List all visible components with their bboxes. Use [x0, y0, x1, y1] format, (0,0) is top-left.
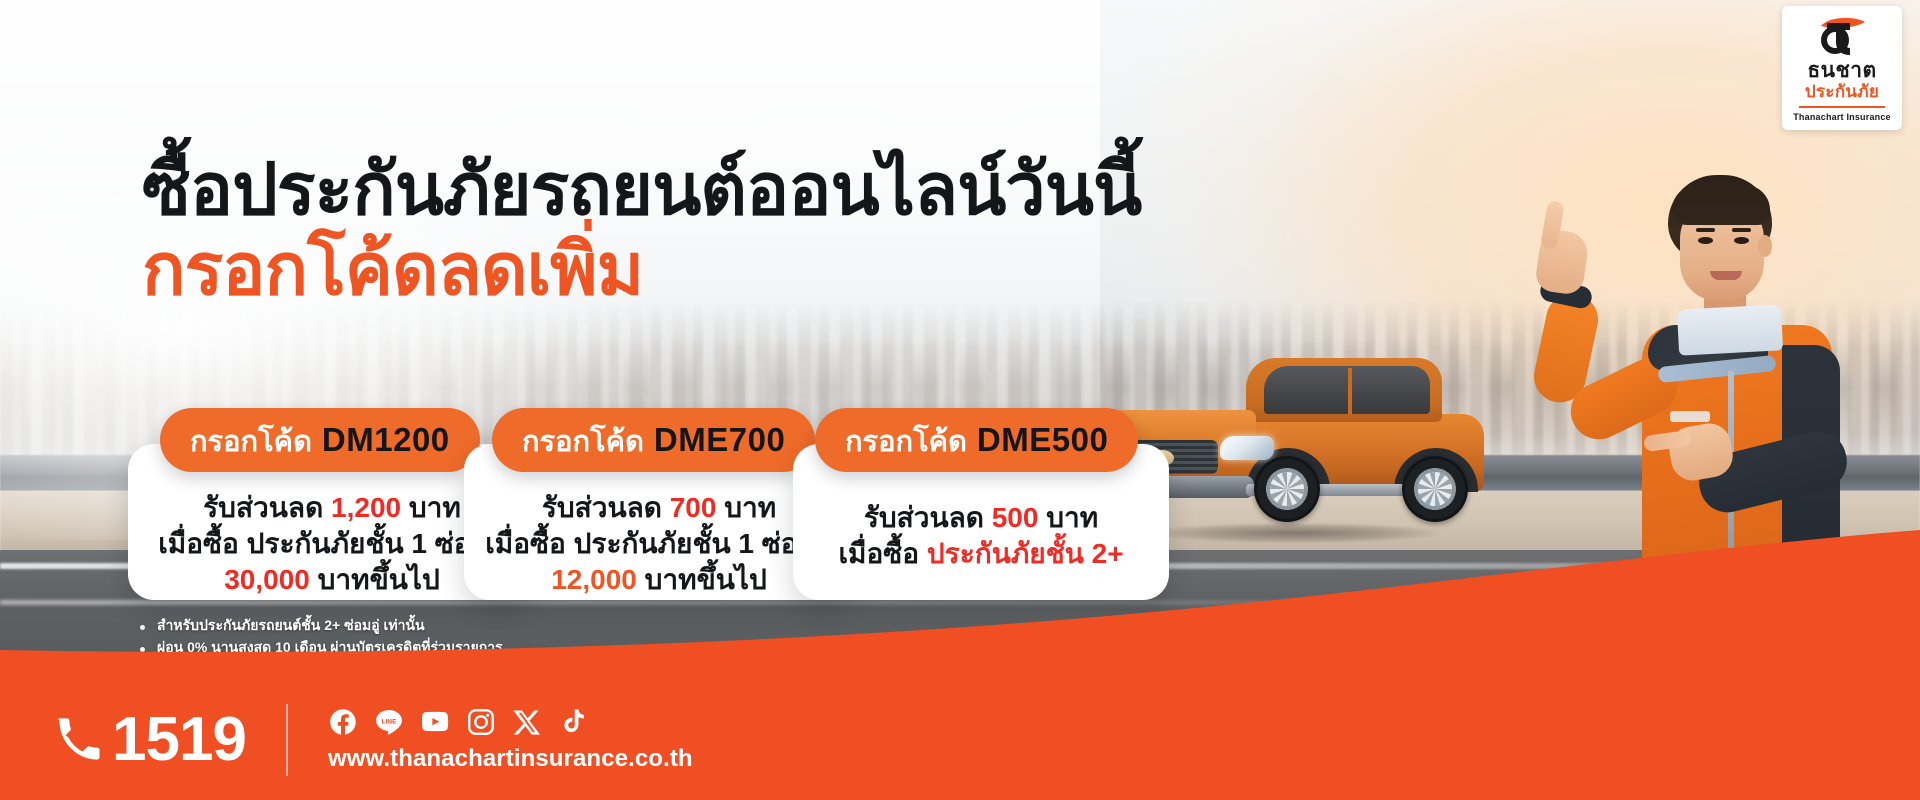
promo-code-pill-3[interactable]: กรอกโค้ดDME500 [815, 408, 1138, 472]
promo-line-prefix: รับส่วนลด [542, 492, 670, 523]
promo-code-2: DME700 [654, 421, 785, 458]
promo-line-3-1: รับส่วนลด 500 บาท [807, 500, 1155, 536]
x-twitter-icon[interactable] [512, 707, 542, 737]
youtube-icon[interactable] [420, 707, 450, 737]
phone-handset-icon [56, 717, 102, 763]
promo-line-suffix: บาท [716, 492, 776, 523]
promo-banner: ซื้อประกันภัยรถยนต์ออนไลน์วันนี้ กรอกโค้… [0, 0, 1920, 800]
promo-line-amount: 700 [670, 492, 717, 523]
bullet-dot-icon [140, 625, 145, 630]
promo-line-suffix: บาท [401, 492, 461, 523]
promo-line-prefix: เมื่อซื้อ ประกันภัยชั้น 1 ซ่อมอู่ [485, 528, 833, 559]
svg-text:LINE: LINE [382, 718, 397, 725]
hotline-group[interactable]: 1519 [56, 709, 246, 771]
promo-line-suffix: บาท [1038, 502, 1098, 533]
pill-label-1: กรอกโค้ด [190, 426, 312, 458]
bullet-dot-icon [140, 669, 145, 674]
bullet-item: สำหรับประกันภัยรถยนต์ชั้น 2+ ซ่อมอู่ เท่… [140, 616, 760, 635]
logo-name-th-1: ธนชาต [1807, 60, 1876, 81]
promo-line-prefix: เมื่อซื้อ ประกันภัยชั้น 1 ซ่อมอู่ [158, 528, 506, 559]
promo-line-amount: 1,200 [331, 492, 401, 523]
promo-line-amount: 500 [992, 502, 1039, 533]
website-url[interactable]: www.thanachartinsurance.co.th [328, 745, 693, 773]
promo-line-suffix: บาทขึ้นไป [637, 564, 767, 595]
promo-line-prefix: เมื่อซื้อ [838, 538, 926, 569]
promo-line-suffix: บาทขึ้นไป [310, 564, 440, 595]
brand-logo[interactable]: ธนชาต ประกันภัย Thanachart Insurance [1782, 6, 1902, 130]
promo-card-body-3: รับส่วนลด 500 บาท เมื่อซื้อ ประกันภัยชั้… [793, 500, 1169, 572]
promo-line-amount: 12,000 [551, 564, 637, 595]
promo-line-2-1: รับส่วนลด 700 บาท [478, 490, 840, 526]
thanachart-t-mark-icon [1811, 14, 1873, 58]
promo-line-3-2: เมื่อซื้อ ประกันภัยชั้น 2+ [807, 536, 1155, 572]
bullet-item: ผ่อน 0% นานสูงสุด 10 เดือน ผ่านบัตรเครดิ… [140, 638, 760, 657]
promo-code-pill-2[interactable]: กรอกโค้ดDME700 [492, 408, 815, 472]
logo-divider [1799, 106, 1885, 108]
promo-line-prefix: รับส่วนลด [203, 492, 331, 523]
promo-code-3: DME500 [977, 421, 1108, 458]
headline-block: ซื้อประกันภัยรถยนต์ออนไลน์วันนี้ กรอกโค้… [142, 152, 1122, 309]
bullet-item: รายละเอียดและเงื่อนไขเป็นไปตามที่บริษัทฯ… [140, 660, 760, 676]
footer-divider [286, 704, 288, 776]
footer-content: 1519 LINE [0, 680, 1920, 800]
terms-bullet-list: สำหรับประกันภัยรถยนต์ชั้น 2+ ซ่อมอู่ เท่… [140, 616, 760, 679]
bullet-dot-icon [140, 647, 145, 652]
promo-card-dme500[interactable]: กรอกโค้ดDME500 รับส่วนลด 500 บาท เมื่อซื… [793, 444, 1169, 600]
tiktok-icon[interactable] [558, 707, 588, 737]
promo-line-prefix: รับส่วนลด [864, 502, 992, 533]
bullet-text: สำหรับประกันภัยรถยนต์ชั้น 2+ ซ่อมอู่ เท่… [157, 616, 425, 635]
promo-code-1: DM1200 [322, 421, 450, 458]
bullet-text: รายละเอียดและเงื่อนไขเป็นไปตามที่บริษัทฯ… [157, 660, 420, 676]
logo-name-en: Thanachart Insurance [1793, 112, 1891, 122]
promo-card-group: กรอกโค้ดDM1200 รับส่วนลด 1,200 บาท เมื่อ… [128, 408, 1368, 608]
line-icon[interactable]: LINE [374, 707, 404, 737]
instagram-icon[interactable] [466, 707, 496, 737]
promo-line-amount: ประกันภัยชั้น 2+ [927, 538, 1124, 569]
promo-line-2-2: เมื่อซื้อ ประกันภัยชั้น 1 ซ่อมอู่ [478, 526, 840, 562]
promo-line-amount: 30,000 [224, 564, 310, 595]
social-links: LINE [328, 707, 693, 737]
pill-label-2: กรอกโค้ด [522, 426, 644, 458]
facebook-icon[interactable] [328, 707, 358, 737]
promo-code-pill-1[interactable]: กรอกโค้ดDM1200 [160, 408, 480, 472]
pill-label-3: กรอกโค้ด [845, 426, 967, 458]
bullet-text: ผ่อน 0% นานสูงสุด 10 เดือน ผ่านบัตรเครดิ… [157, 638, 503, 657]
hotline-number: 1519 [112, 709, 246, 771]
promo-line-2-3: 12,000 บาทขึ้นไป [478, 562, 840, 598]
presenter-person-image [1452, 175, 1872, 675]
headline-line-1: ซื้อประกันภัยรถยนต์ออนไลน์วันนี้ [142, 152, 1122, 228]
headline-line-2: กรอกโค้ดลดเพิ่ม [142, 232, 1122, 308]
logo-name-th-2: ประกันภัย [1805, 83, 1879, 101]
